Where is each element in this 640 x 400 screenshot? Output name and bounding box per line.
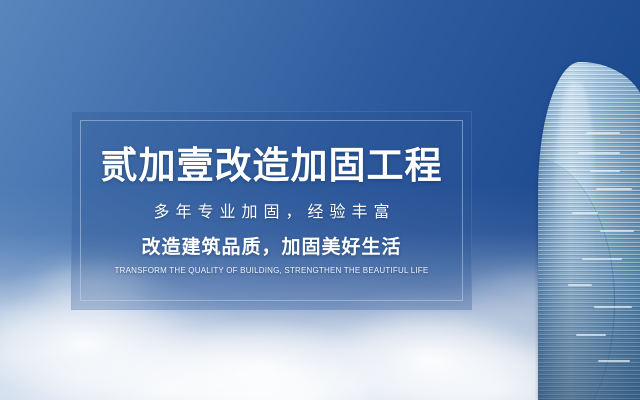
hero-copy: 贰加壹改造加固工程 多年专业加固，经验丰富 改造建筑品质，加固美好生活 TRAN… xyxy=(71,111,472,310)
skyscraper-building xyxy=(538,62,640,400)
hero-title: 贰加壹改造加固工程 xyxy=(101,146,443,186)
hero-banner: 贰加壹改造加固工程 多年专业加固，经验丰富 改造建筑品质，加固美好生活 TRAN… xyxy=(0,0,640,400)
building-window-highlight xyxy=(590,170,620,172)
building-window-highlight xyxy=(600,230,634,232)
hero-subtitle: 多年专业加固，经验丰富 xyxy=(147,203,395,224)
building-window-highlight xyxy=(578,152,620,154)
building-window-highlight xyxy=(568,284,592,286)
building-window-highlight xyxy=(594,306,632,308)
hero-tagline-english: TRANSFORM THE QUALITY OF BUILDING, STREN… xyxy=(115,266,429,275)
hero-slogan: 改造建筑品质，加固美好生活 xyxy=(141,236,401,260)
building-window-highlight xyxy=(598,360,630,362)
building-window-highlight xyxy=(582,258,622,260)
building-window-highlight xyxy=(596,188,632,190)
building-window-highlight xyxy=(572,212,598,214)
building-window-highlight xyxy=(586,132,620,134)
building-window-highlight xyxy=(576,334,606,336)
